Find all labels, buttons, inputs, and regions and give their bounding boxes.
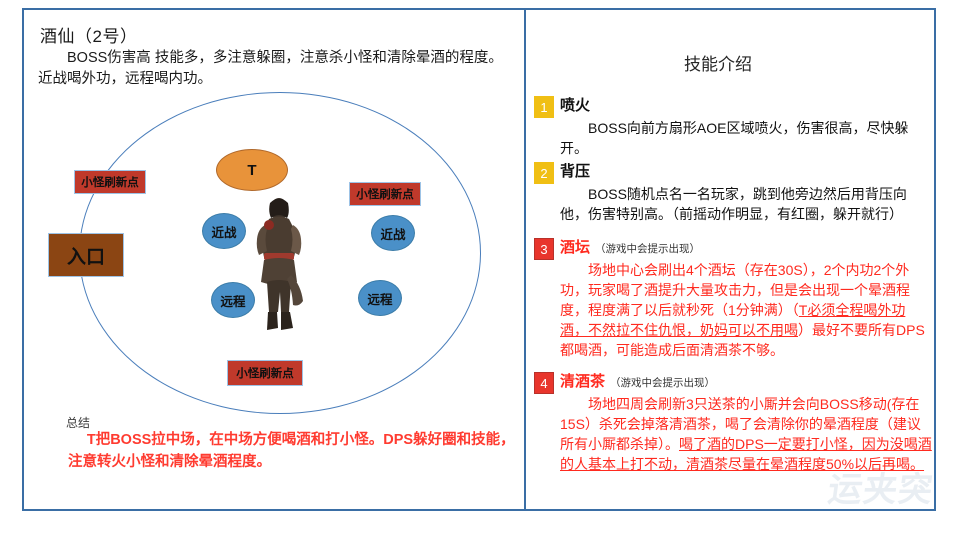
right-panel-skills: 技能介绍 1喷火BOSS向前方扇形AOE区域喷火，伤害很高，尽快躲开。2背压BO…	[528, 10, 936, 509]
skill-name-4: 清酒茶（游戏中会提示出现）	[560, 372, 715, 394]
skill-number-badge-4: 4	[534, 372, 554, 394]
summary-text: T把BOSS拉中场，在中场方便喝酒和打小怪。DPS躲好圈和技能，注意转火小怪和清…	[68, 430, 523, 474]
skill-name-text-1: 喷火	[560, 97, 590, 114]
add-spawn-top-left-label: 小怪刷新点	[81, 174, 139, 190]
melee-right-label: 近战	[380, 224, 405, 243]
skill-name-1: 喷火	[560, 96, 590, 116]
skill-name-text-3: 酒坛	[560, 239, 590, 256]
add-spawn-top-right: 小怪刷新点	[349, 182, 421, 206]
skill-item-4: 4清酒茶（游戏中会提示出现）场地四周会刷新3只送茶的小厮并会向BOSS移动(存在…	[534, 372, 932, 475]
add-spawn-bottom: 小怪刷新点	[227, 360, 303, 386]
ranged-right: 远程	[358, 280, 402, 316]
entrance-label: 入口	[67, 242, 105, 269]
skills-section-title: 技能介绍	[528, 50, 908, 75]
add-spawn-top-right-label: 小怪刷新点	[356, 186, 414, 202]
skill-name-3: 酒坛（游戏中会提示出现）	[560, 238, 700, 260]
ranged-right-label: 远程	[367, 289, 392, 308]
skill-note-3: （游戏中会提示出现）	[595, 243, 700, 255]
skill-item-1: 1喷火BOSS向前方扇形AOE区域喷火，伤害很高，尽快躲开。	[534, 96, 932, 159]
melee-left-label: 近战	[211, 222, 236, 241]
skill-body-part-3-3: ）（	[778, 302, 799, 318]
ranged-left-label: 远程	[220, 291, 245, 310]
panel-divider	[524, 8, 526, 511]
entrance: 入口	[48, 233, 124, 277]
skill-item-2: 2背压BOSS随机点名一名玩家，跳到他旁边然后用背压向他，伤害特别高。（前摇动作…	[534, 162, 932, 225]
left-panel-arena: 酒仙（2号） BOSS伤害高 技能多，多注意躲圈，注意杀小怪和清除晕酒的程度。近…	[24, 10, 524, 509]
boss-title: 酒仙（2号）	[40, 22, 137, 47]
melee-left: 近战	[202, 213, 246, 249]
add-spawn-top-left: 小怪刷新点	[74, 170, 146, 194]
skill-body-1: BOSS向前方扇形AOE区域喷火，伤害很高，尽快躲开。	[560, 119, 932, 159]
skill-name-2: 背压	[560, 162, 590, 182]
skill-body-3: 场地中心会刷出4个酒坛（存在30S），2个内功2个外功，玩家喝了酒提升大量攻击力…	[560, 261, 932, 360]
melee-right: 近战	[371, 215, 415, 251]
boss-description: BOSS伤害高 技能多，多注意躲圈，注意杀小怪和清除晕酒的程度。近战喝外功，远程…	[38, 48, 506, 90]
slide-canvas: 酒仙（2号） BOSS伤害高 技能多，多注意躲圈，注意杀小怪和清除晕酒的程度。近…	[0, 0, 955, 537]
add-spawn-bottom-label: 小怪刷新点	[236, 365, 294, 381]
skill-body-2: BOSS随机点名一名玩家，跳到他旁边然后用背压向他，伤害特别高。（前摇动作明显，…	[560, 185, 932, 225]
skill-header-1: 1喷火	[534, 96, 932, 118]
skill-number-badge-3: 3	[534, 238, 554, 260]
boss-character-sprite	[247, 195, 311, 335]
skill-item-3: 3酒坛（游戏中会提示出现）场地中心会刷出4个酒坛（存在30S），2个内功2个外功…	[534, 238, 932, 360]
skill-header-2: 2背压	[534, 162, 932, 184]
skill-number-badge-1: 1	[534, 96, 554, 118]
tank-position: T	[216, 149, 288, 191]
site-logo-watermark: 运夹突	[824, 462, 936, 509]
skill-name-text-2: 背压	[560, 163, 590, 180]
skill-name-text-4: 清酒茶	[560, 373, 605, 390]
tank-position-label: T	[247, 162, 256, 179]
skill-body-part-3-2: 1分钟满	[728, 302, 778, 318]
skill-header-4: 4清酒茶（游戏中会提示出现）	[534, 372, 932, 394]
skill-note-4: （游戏中会提示出现）	[610, 377, 715, 389]
summary-label: 总结	[66, 414, 90, 431]
skill-number-badge-2: 2	[534, 162, 554, 184]
skill-header-3: 3酒坛（游戏中会提示出现）	[534, 238, 932, 260]
